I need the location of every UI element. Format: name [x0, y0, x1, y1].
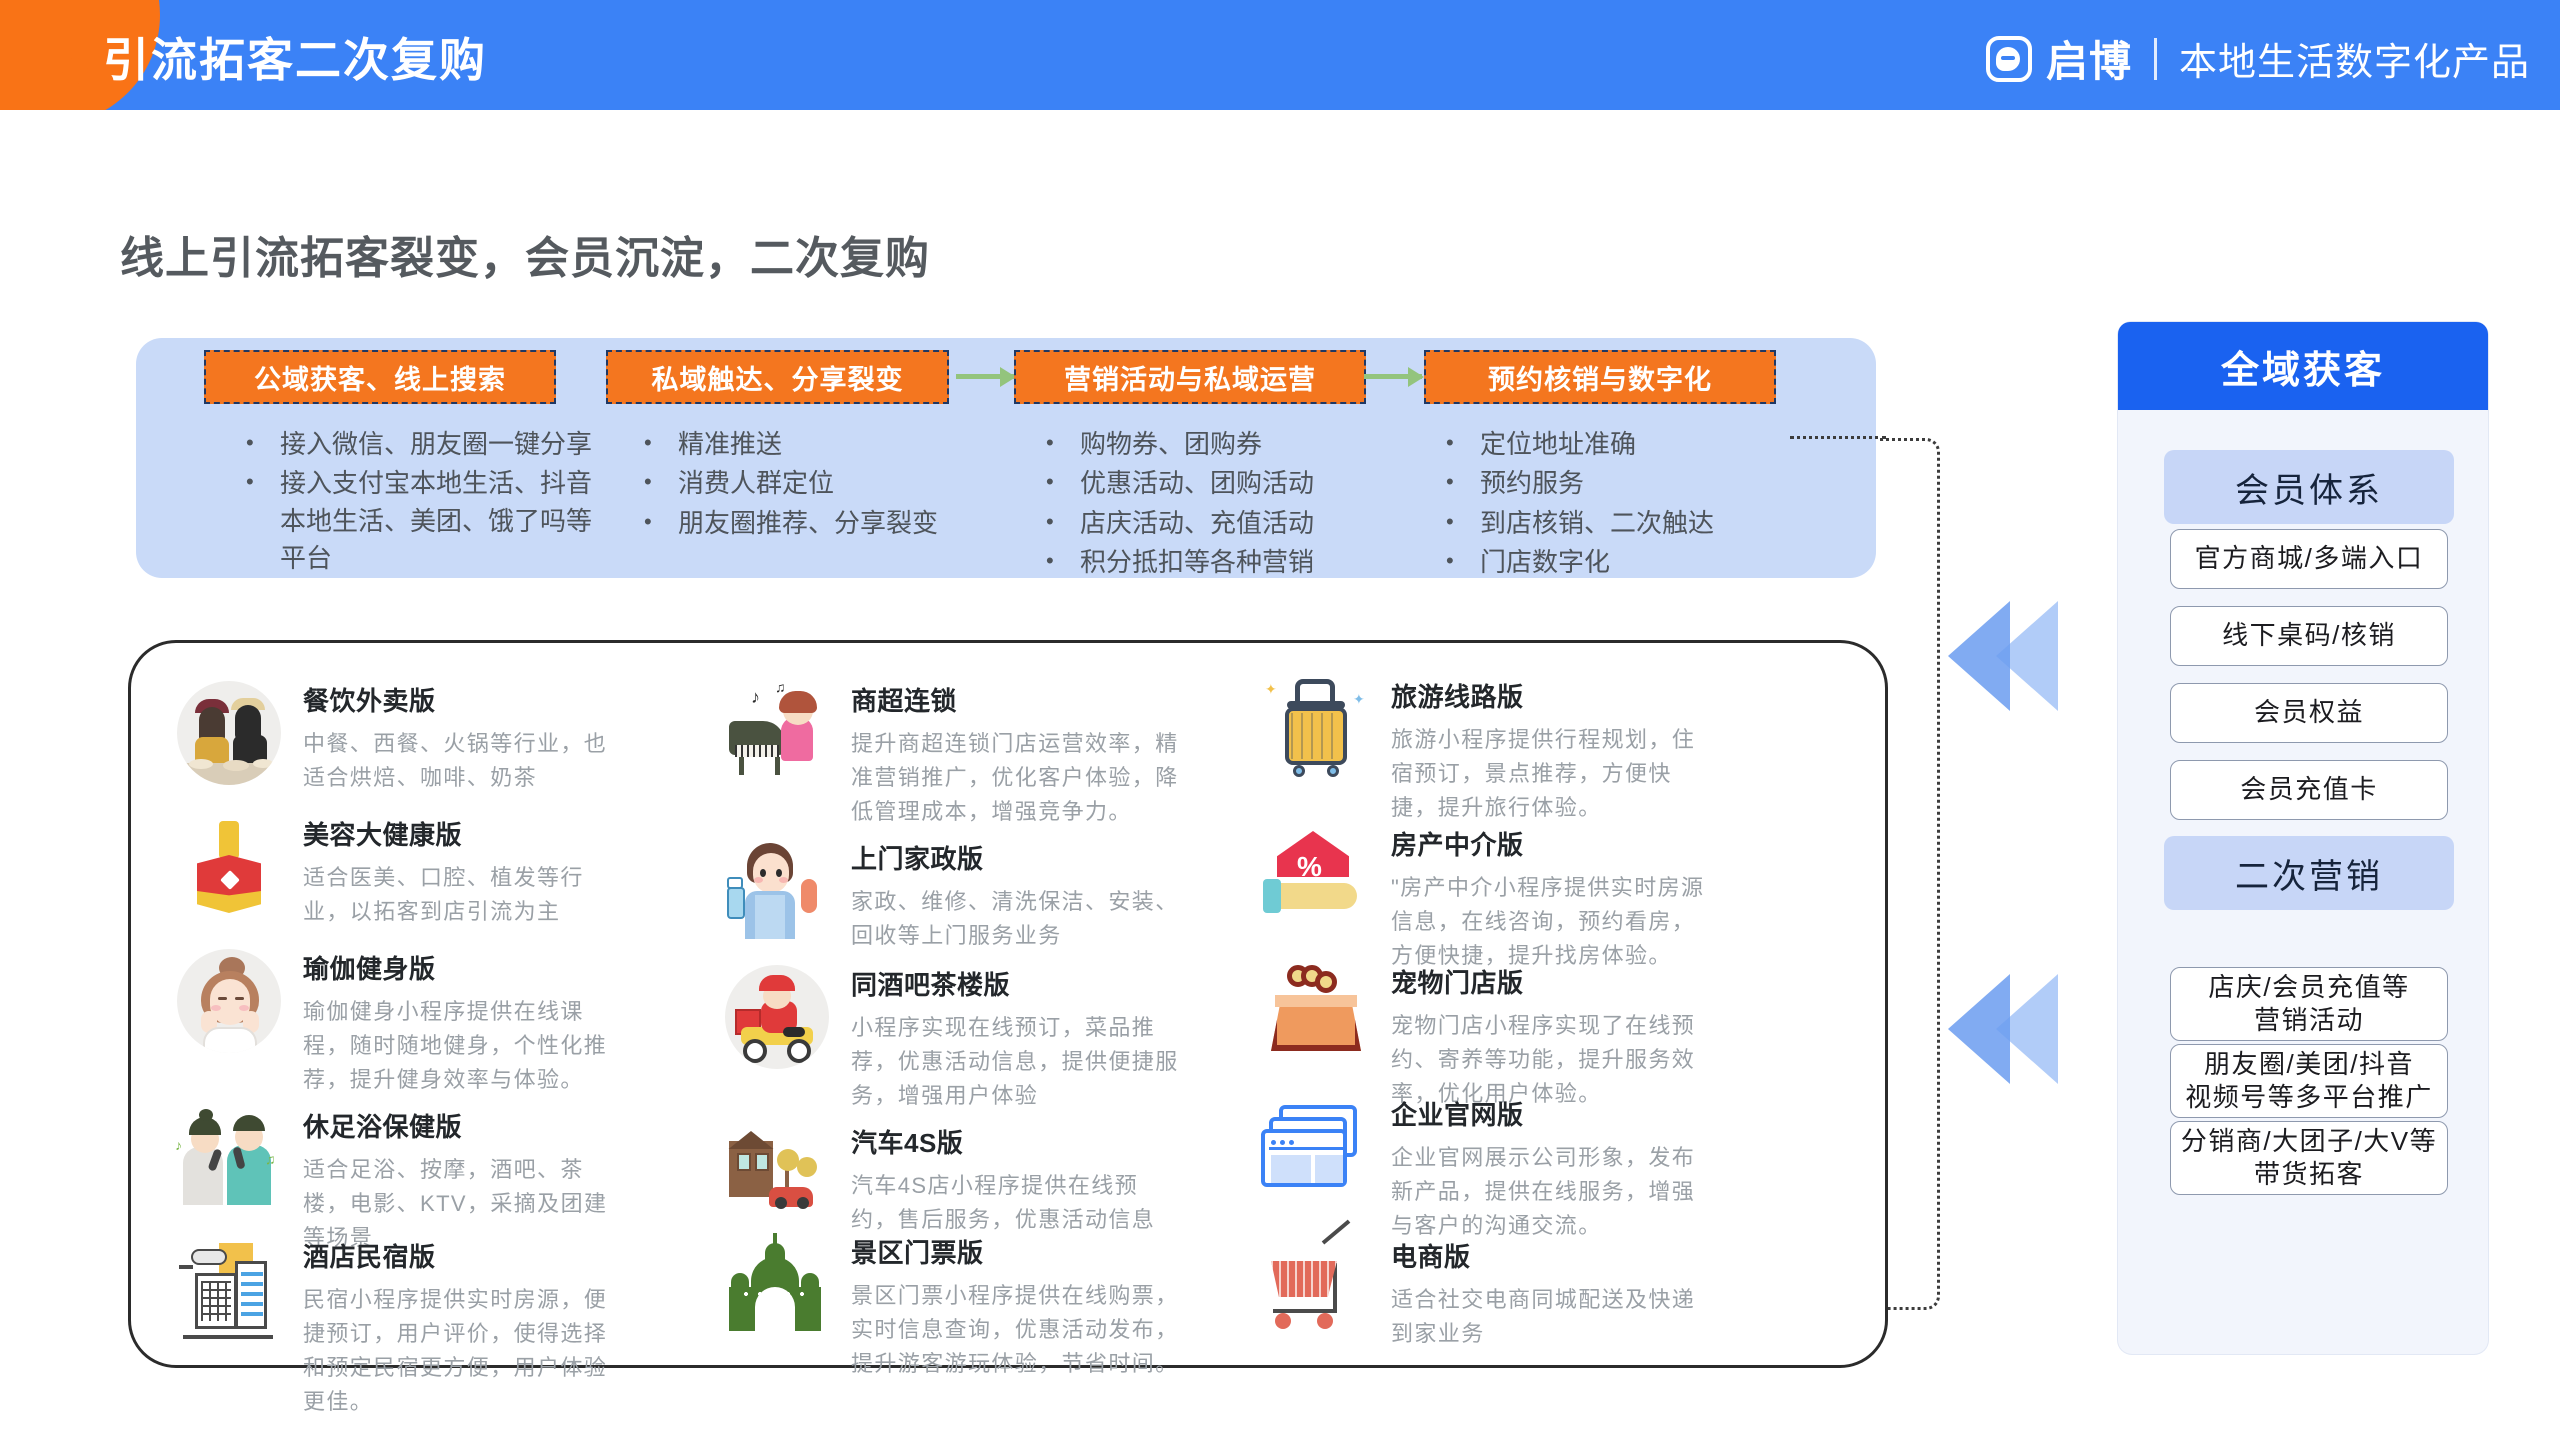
industry-cards-panel: 餐饮外卖版 中餐、西餐、火锅等行业，也适合烘焙、咖啡、奶茶 美容大健康版 适合医…	[128, 640, 1888, 1368]
card-title: 餐饮外卖版	[303, 681, 613, 718]
sidebar-chip-anniversary-promo[interactable]: 店庆/会员充值等营销活动	[2170, 967, 2448, 1041]
sidebar-header: 全域获客	[2118, 322, 2488, 410]
flow-bullet-item: •预约服务	[1446, 465, 1806, 502]
industry-card[interactable]: % 房产中介版 "房产中介小程序提供实时房源信息，在线咨询，预约看房，方便快捷，…	[1261, 821, 1711, 973]
flow-step-box-3[interactable]: 营销活动与私域运营	[1014, 350, 1366, 404]
flow-bullet-item: •定位地址准确	[1446, 426, 1806, 463]
bullet-dot: •	[644, 505, 678, 539]
sidebar-chip-member-card[interactable]: 会员充值卡	[2170, 760, 2448, 820]
bullet-dot: •	[644, 426, 678, 460]
karaoke-singers-icon: ♪♫	[173, 1103, 285, 1215]
card-description: 企业官网展示公司形象，发布新产品，提供在线服务，增强与客户的沟通交流。	[1391, 1141, 1711, 1243]
card-description: 家政、维修、清洗保洁、安装、回收等上门服务业务	[851, 885, 1181, 953]
industry-card[interactable]: 同酒吧茶楼版 小程序实现在线预订，菜品推荐，优惠活动信息，提供便捷服务，增强用户…	[721, 961, 1181, 1113]
industry-card[interactable]: ♪♫ 商超连锁 提升商超连锁门店运营效率，精准营销推广，优化客户体验，降低管理成…	[721, 677, 1181, 829]
industry-card[interactable]: 上门家政版 家政、维修、清洗保洁、安装、回收等上门服务业务	[721, 835, 1181, 953]
card-title: 景区门票版	[851, 1233, 1181, 1270]
dotted-connector-bracket	[1880, 438, 1940, 1310]
housekeeping-maid-icon	[721, 835, 833, 947]
card-title: 商超连锁	[851, 681, 1181, 718]
flow-bullet-text: 消费人群定位	[678, 465, 984, 502]
section-title: 线上引流拓客裂变，会员沉淀，二次复购	[120, 222, 930, 286]
flow-arrow-1	[956, 374, 1014, 379]
flow-bullet-text: 门店数字化	[1480, 544, 1806, 581]
flow-step-box-2[interactable]: 私域触达、分享裂变	[606, 350, 949, 404]
house-percent-hand-icon: %	[1261, 821, 1373, 933]
flow-bullet-text: 定位地址准确	[1480, 426, 1806, 463]
luggage-suitcase-icon: ✦ ✦	[1261, 673, 1373, 785]
card-description: 提升商超连锁门店运营效率，精准营销推广，优化客户体验，降低管理成本，增强竞争力。	[851, 727, 1181, 829]
card-title: 电商版	[1391, 1237, 1711, 1274]
industry-card[interactable]: 汽车4S版 汽车4S店小程序提供在线预约，售后服务，优惠活动信息	[721, 1119, 1181, 1237]
sidebar-group-title-remarketing: 二次营销	[2164, 836, 2454, 910]
bullet-dot: •	[246, 426, 280, 460]
dotted-connector-top	[1790, 436, 1886, 439]
flow-bullet-text: 接入微信、朋友圈一键分享	[280, 426, 606, 463]
flow-bullet-text: 预约服务	[1480, 465, 1806, 502]
industry-card[interactable]: 酒店民宿版 民宿小程序提供实时房源，便捷预订，用户评价，使得选择和预定民宿更方便…	[173, 1233, 613, 1419]
card-description: "房产中介小程序提供实时房源信息，在线咨询，预约看房，方便快捷，提升找房体验。	[1391, 871, 1711, 973]
flow-bullet-text: 优惠活动、团购活动	[1080, 465, 1426, 502]
page-title: 引流拓客二次复购	[103, 24, 487, 90]
flow-step-box-1[interactable]: 公域获客、线上搜索	[204, 350, 556, 404]
flow-bullet-item: •朋友圈推荐、分享裂变	[644, 505, 984, 542]
card-title: 宠物门店版	[1391, 963, 1711, 1000]
nail-polish-icon	[173, 811, 285, 923]
sidebar-group-title-membership: 会员体系	[2164, 450, 2454, 524]
flow-bullet-text: 精准推送	[678, 426, 984, 463]
card-description: 汽车4S店小程序提供在线预约，售后服务，优惠活动信息	[851, 1169, 1181, 1237]
card-title: 酒店民宿版	[303, 1237, 613, 1274]
card-title: 旅游线路版	[1391, 677, 1711, 714]
bullet-dot: •	[1046, 544, 1080, 578]
card-description: 中餐、西餐、火锅等行业，也适合烘焙、咖啡、奶茶	[303, 727, 613, 795]
pet-bowl-icon	[1261, 959, 1373, 1071]
bullet-dot: •	[1446, 544, 1480, 578]
flow-bullet-item: •消费人群定位	[644, 465, 984, 502]
flow-bullet-text: 购物券、团购券	[1080, 426, 1426, 463]
sidebar-chip-multiplatform-promo[interactable]: 朋友圈/美团/抖音视频号等多平台推广	[2170, 1044, 2448, 1118]
brand-divider	[2154, 38, 2157, 80]
brand-lockup: 启博 本地生活数字化产品	[1986, 28, 2530, 89]
header-decoration-dot	[62, 58, 88, 84]
card-description: 适合医美、口腔、植发等行业，以拓客到店引流为主	[303, 861, 613, 929]
card-description: 旅游小程序提供行程规划，住宿预订，景点推荐，方便快捷，提升旅行体验。	[1391, 723, 1711, 825]
sidebar-chip-distributor-promo[interactable]: 分销商/大团子/大V等带货拓客	[2170, 1121, 2448, 1195]
bullet-dot: •	[1446, 465, 1480, 499]
right-sidebar-panel: 全域获客 会员体系 官方商城/多端入口 线下桌码/核销 会员权益 会员充值卡 二…	[2118, 322, 2488, 1354]
industry-card[interactable]: 景区门票版 景区门票小程序提供在线购票，实时信息查询，优惠活动发布，提升游客游玩…	[721, 1229, 1181, 1381]
flow-bullet-item: •门店数字化	[1446, 544, 1806, 581]
flow-bullets-2: •精准推送 •消费人群定位 •朋友圈推荐、分享裂变	[644, 426, 984, 544]
flow-bullet-text: 接入支付宝本地生活、抖音本地生活、美团、饿了吗等平台	[280, 465, 606, 577]
left-double-arrow-bottom-icon	[1948, 974, 2088, 1084]
industry-card[interactable]: 宠物门店版 宠物门店小程序实现了在线预约、寄养等功能，提升服务效率，优化用户体验…	[1261, 959, 1711, 1111]
flow-panel: 公域获客、线上搜索 私域触达、分享裂变 营销活动与私域运营 预约核销与数字化 •…	[136, 338, 1876, 578]
sidebar-chip-table-code[interactable]: 线下桌码/核销	[2170, 606, 2448, 666]
card-description: 景区门票小程序提供在线购票，实时信息查询，优惠活动发布，提升游客游玩体验，节省时…	[851, 1279, 1181, 1381]
industry-card[interactable]: 餐饮外卖版 中餐、西餐、火锅等行业，也适合烘焙、咖啡、奶茶	[173, 677, 613, 795]
industry-card[interactable]: 瑜伽健身版 瑜伽健身小程序提供在线课程，随时随地健身，个性化推荐，提升健身效率与…	[173, 945, 613, 1097]
card-title: 企业官网版	[1391, 1095, 1711, 1132]
card-title: 休足浴保健版	[303, 1107, 613, 1144]
bullet-dot: •	[246, 465, 280, 499]
flow-bullet-item: •精准推送	[644, 426, 984, 463]
flow-bullet-text: 朋友圈推荐、分享裂变	[678, 505, 984, 542]
shopping-cart-icon	[1261, 1233, 1373, 1345]
brand-name: 启博	[2046, 28, 2132, 89]
yoga-woman-icon	[173, 945, 285, 1057]
card-description: 适合社交电商同城配送及快递到家业务	[1391, 1283, 1711, 1351]
industry-card[interactable]: 企业官网版 企业官网展示公司形象，发布新产品，提供在线服务，增强与客户的沟通交流…	[1261, 1091, 1711, 1243]
car-dealership-icon	[721, 1119, 833, 1231]
flow-bullet-item: •接入微信、朋友圈一键分享	[246, 426, 606, 463]
flow-bullet-text: 到店核销、二次触达	[1480, 505, 1806, 542]
bullet-dot: •	[1046, 426, 1080, 460]
bullet-dot: •	[1446, 505, 1480, 539]
brand-tagline: 本地生活数字化产品	[2179, 31, 2530, 86]
card-description: 小程序实现在线预订，菜品推荐，优惠活动信息，提供便捷服务，增强用户体验	[851, 1011, 1181, 1113]
bullet-dot: •	[644, 465, 678, 499]
flow-bullet-item: •优惠活动、团购活动	[1046, 465, 1426, 502]
flow-bullets-1: •接入微信、朋友圈一键分享 •接入支付宝本地生活、抖音本地生活、美团、饿了吗等平…	[246, 426, 606, 580]
card-title: 汽车4S版	[851, 1123, 1181, 1160]
flow-bullets-4: •定位地址准确 •预约服务 •到店核销、二次触达 •门店数字化	[1446, 426, 1806, 584]
page-header: 引流拓客二次复购 启博 本地生活数字化产品	[0, 0, 2560, 110]
flow-step-boxes: 公域获客、线上搜索 私域触达、分享裂变 营销活动与私域运营 预约核销与数字化	[136, 338, 1876, 414]
card-title: 瑜伽健身版	[303, 949, 613, 986]
browser-windows-icon	[1261, 1091, 1373, 1203]
restaurant-dining-icon	[173, 677, 285, 789]
scenic-gate-icon	[721, 1229, 833, 1341]
flow-bullet-item: •店庆活动、充值活动	[1046, 505, 1426, 542]
hotel-buildings-icon	[173, 1233, 285, 1345]
flow-bullets-3: •购物券、团购券 •优惠活动、团购活动 •店庆活动、充值活动 •积分抵扣等各种营…	[1046, 426, 1426, 584]
card-title: 房产中介版	[1391, 825, 1711, 862]
flow-bullet-item: •到店核销、二次触达	[1446, 505, 1806, 542]
flow-bullet-item: •购物券、团购券	[1046, 426, 1426, 463]
industry-card[interactable]: ✦ ✦ 旅游线路版 旅游小程序提供行程规划，住宿预订，景点推荐，方便快捷，提升旅…	[1261, 673, 1711, 825]
delivery-rider-icon	[721, 961, 833, 1073]
bullet-dot: •	[1446, 426, 1480, 460]
flow-bullet-text: 店庆活动、充值活动	[1080, 505, 1426, 542]
industry-card[interactable]: 美容大健康版 适合医美、口腔、植发等行业，以拓客到店引流为主	[173, 811, 613, 929]
qibo-logo-icon	[1986, 36, 2032, 82]
left-double-arrow-top-icon	[1948, 601, 2088, 711]
flow-bullet-item: •接入支付宝本地生活、抖音本地生活、美团、饿了吗等平台	[246, 465, 606, 577]
sidebar-chip-member-benefits[interactable]: 会员权益	[2170, 683, 2448, 743]
card-title: 同酒吧茶楼版	[851, 965, 1181, 1002]
flow-bullet-text: 积分抵扣等各种营销	[1080, 544, 1426, 581]
flow-step-box-4[interactable]: 预约核销与数字化	[1424, 350, 1776, 404]
bullet-dot: •	[1046, 465, 1080, 499]
card-title: 美容大健康版	[303, 815, 613, 852]
card-description: 民宿小程序提供实时房源，便捷预订，用户评价，使得选择和预定民宿更方便，用户体验更…	[303, 1283, 613, 1419]
sidebar-chip-official-mall[interactable]: 官方商城/多端入口	[2170, 529, 2448, 589]
bullet-dot: •	[1046, 505, 1080, 539]
flow-bullet-item: •积分抵扣等各种营销	[1046, 544, 1426, 581]
industry-card[interactable]: 电商版 适合社交电商同城配送及快递到家业务	[1261, 1233, 1711, 1351]
card-description: 瑜伽健身小程序提供在线课程，随时随地健身，个性化推荐，提升健身效率与体验。	[303, 995, 613, 1097]
card-title: 上门家政版	[851, 839, 1181, 876]
piano-child-icon: ♪♫	[721, 677, 833, 789]
flow-arrow-2	[1364, 374, 1422, 379]
